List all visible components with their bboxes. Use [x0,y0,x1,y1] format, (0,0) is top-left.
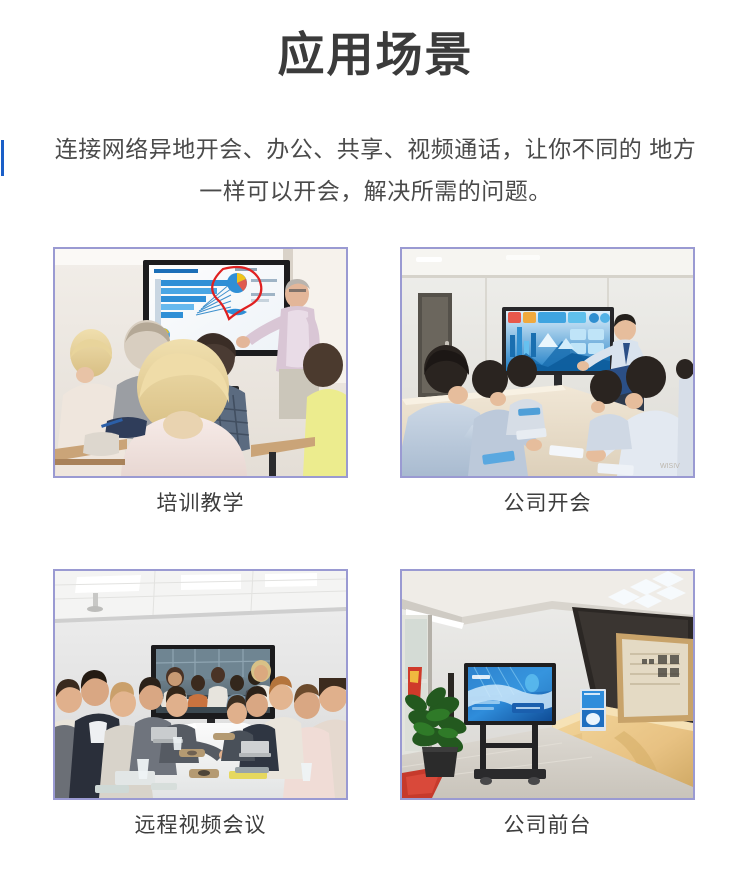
scenario-caption-reception: 公司前台 [400,811,695,841]
scenario-caption-video-conference: 远程视频会议 [53,811,348,841]
scenario-image-frame-training [53,247,348,478]
classroom-training-interactive-whiteboard-image [55,249,346,476]
scenario-caption-training: 培训教学 [53,489,348,519]
scenario-row-1: 培训教学 [53,247,695,519]
company-meeting-room-smart-display-image: WISIV [402,249,693,476]
page-description: 连接网络异地开会、办公、共享、视频通话，让你不同的 地方一样可以开会，解决所需的… [45,128,706,212]
scenario-row-2: 远程视频会议 [53,569,695,841]
scenario-card-video-conference[interactable]: 远程视频会议 [53,569,348,841]
scenario-caption-company-meeting: 公司开会 [400,489,695,519]
scenario-grid: 培训教学 [53,247,695,841]
left-edge-accent-marker [1,140,4,176]
scenario-image-frame-reception [400,569,695,800]
remote-video-conference-large-screen-image [55,571,346,798]
company-reception-lobby-display-stand-image [402,571,693,798]
svg-text:WISIV: WISIV [660,463,680,470]
page-description-line-1: 连接网络异地开会、办公、共享、视频通话，让你不同的 [55,136,643,162]
scenario-card-training[interactable]: 培训教学 [53,247,348,519]
scenario-card-company-meeting[interactable]: WISIV 公司开会 [400,247,695,519]
page-title: 应用场景 [0,26,751,84]
scenario-image-frame-company-meeting: WISIV [400,247,695,478]
scenario-image-frame-video-conference [53,569,348,800]
scenario-card-reception[interactable]: 公司前台 [400,569,695,841]
